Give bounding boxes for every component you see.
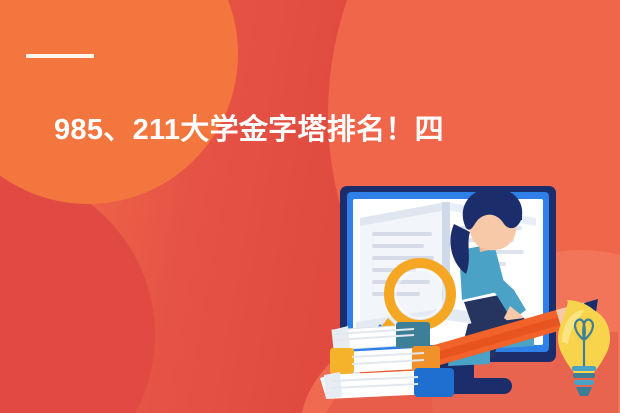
accent-rule bbox=[26, 54, 94, 58]
online-research-illustration bbox=[318, 182, 620, 413]
page-title: 985、211大学金字塔排名！四 bbox=[54, 113, 444, 147]
promo-banner: 985、211大学金字塔排名！四 bbox=[0, 0, 620, 413]
